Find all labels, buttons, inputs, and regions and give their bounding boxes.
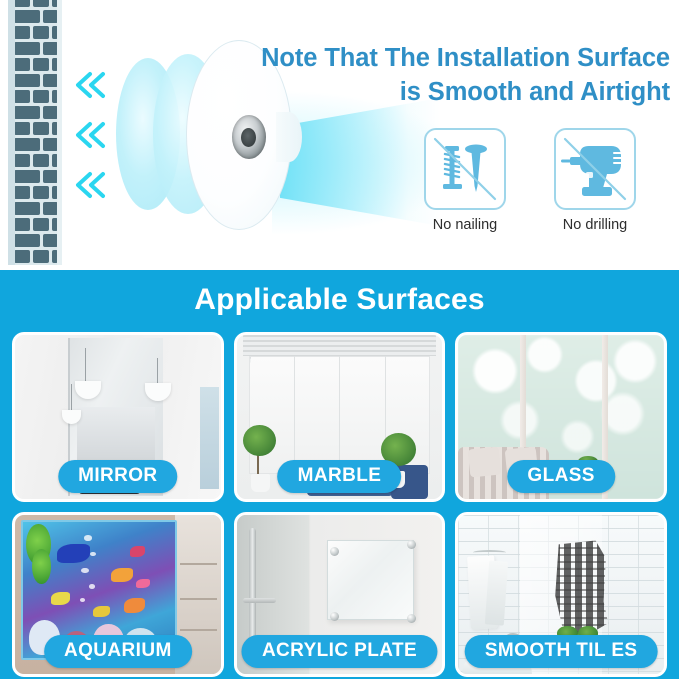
surface-label-smooth-tiles: SMOOTH TIL ES	[465, 635, 658, 668]
surface-label-marble: MARBLE	[278, 460, 402, 493]
headline-line-1: Note That The Installation Surface	[206, 42, 670, 76]
surface-card-aquarium[interactable]: AQUARIUM	[12, 512, 224, 677]
surface-card-mirror[interactable]: MIRROR	[12, 332, 224, 502]
installation-note-section: Note That The Installation Surface is Sm…	[0, 0, 679, 270]
surface-label-glass: GLASS	[507, 460, 614, 493]
double-chevron-left-icon	[74, 122, 108, 148]
suction-cup-hub	[232, 115, 266, 159]
surface-card-smooth-tiles[interactable]: SMOOTH TIL ES	[455, 512, 667, 677]
double-chevron-left-icon	[74, 172, 108, 198]
page-title: Note That The Installation Surface is Sm…	[206, 42, 670, 110]
surface-card-acrylic-plate[interactable]: ACRYLIC PLATE	[234, 512, 446, 677]
surface-label-aquarium: AQUARIUM	[44, 635, 192, 668]
no-drilling-icon	[554, 128, 636, 210]
suction-cup-neck	[276, 112, 302, 162]
section-title: Applicable Surfaces	[0, 270, 679, 317]
wall-edge-right	[57, 0, 62, 265]
no-drilling-label: No drilling	[544, 217, 646, 233]
infographic-page: Note That The Installation Surface is Sm…	[0, 0, 679, 679]
no-nailing-item: No nailing	[414, 128, 516, 248]
applicable-surfaces-section: Applicable Surfaces MIRROR	[0, 270, 679, 679]
no-drilling-item: No drilling	[544, 128, 646, 248]
surface-card-marble[interactable]: MARBLE	[234, 332, 446, 502]
brick-wall-texture	[8, 0, 62, 265]
no-nailing-label: No nailing	[414, 217, 516, 233]
surface-label-acrylic-plate: ACRYLIC PLATE	[242, 635, 437, 668]
prohibition-icons: No nailing	[414, 128, 646, 248]
double-chevron-left-icon	[74, 72, 108, 98]
surface-label-mirror: MIRROR	[58, 460, 177, 493]
wall-edge-left	[8, 0, 15, 265]
surfaces-grid: MIRROR	[12, 332, 667, 677]
surface-card-glass[interactable]: GLASS	[455, 332, 667, 502]
headline-line-2: is Smooth and Airtight	[206, 76, 670, 110]
no-nailing-icon	[424, 128, 506, 210]
